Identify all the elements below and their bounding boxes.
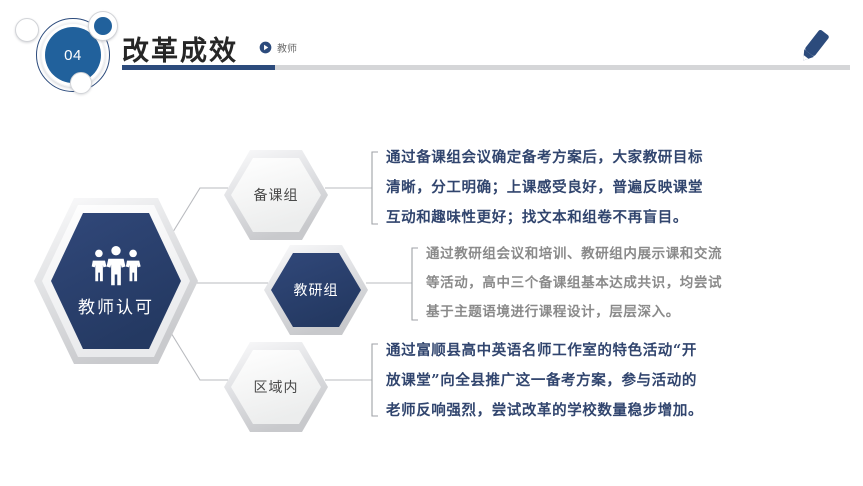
- play-circle-icon: [259, 41, 272, 54]
- decor-circle-bottom-right-icon: [70, 72, 92, 94]
- pencil-icon: [795, 25, 833, 67]
- text-block-0-line-0: 通过备课组会议确定备考方案后，大家教研目标: [386, 143, 703, 173]
- slide-canvas: 04 改革成效 教师: [0, 0, 863, 486]
- text-block-2-line-1: 放课堂”向全县推广这一备考方案，参与活动的: [386, 366, 703, 396]
- text-block-1-line-1: 等活动，高中三个备课组基本达成共识，均尝试: [426, 269, 722, 298]
- branch-node-0[interactable]: 备课组: [222, 148, 330, 242]
- three-people-icon: [89, 245, 143, 287]
- center-node-teacher-approval[interactable]: 教师认可: [32, 196, 200, 366]
- title-underline-track: [122, 65, 850, 70]
- text-block-0-line-1: 清晰，分工明确；上课感受良好，普遍反映课堂: [386, 173, 703, 203]
- subtitle-group: 教师: [259, 40, 297, 55]
- branch-node-2[interactable]: 区域内: [222, 340, 330, 434]
- text-block-0: 通过备课组会议确定备考方案后，大家教研目标 清晰，分工明确；上课感受良好，普遍反…: [386, 143, 703, 233]
- decor-circle-top-left-icon: [15, 18, 39, 42]
- branch-node-1[interactable]: 教研组: [262, 243, 370, 337]
- decor-dot-top-right-icon: [94, 17, 112, 35]
- center-node-content: 教师认可: [32, 196, 200, 366]
- text-block-1-line-0: 通过教研组会议和培训、教研组内展示课和交流: [426, 240, 722, 269]
- text-block-1: 通过教研组会议和培训、教研组内展示课和交流 等活动，高中三个备课组基本达成共识，…: [426, 240, 722, 327]
- text-block-0-line-2: 互动和趣味性更好；找文本和组卷不再盲目。: [386, 203, 703, 233]
- page-title: 改革成效: [122, 29, 238, 68]
- subtitle-label: 教师: [277, 40, 297, 55]
- header-badge-cluster: 04: [14, 4, 130, 100]
- title-underline-fill: [122, 65, 275, 70]
- text-block-2: 通过富顺县高中英语名师工作室的特色活动“开 放课堂”向全县推广这一备考方案，参与…: [386, 336, 703, 426]
- text-block-1-line-2: 基于主题语境进行课程设计，层层深入。: [426, 298, 722, 327]
- center-node-label: 教师认可: [78, 293, 154, 318]
- text-block-2-line-0: 通过富顺县高中英语名师工作室的特色活动“开: [386, 336, 703, 366]
- text-block-2-line-2: 老师反响强烈，尝试改革的学校数量稳步增加。: [386, 396, 703, 426]
- section-number-label: 04: [64, 47, 82, 64]
